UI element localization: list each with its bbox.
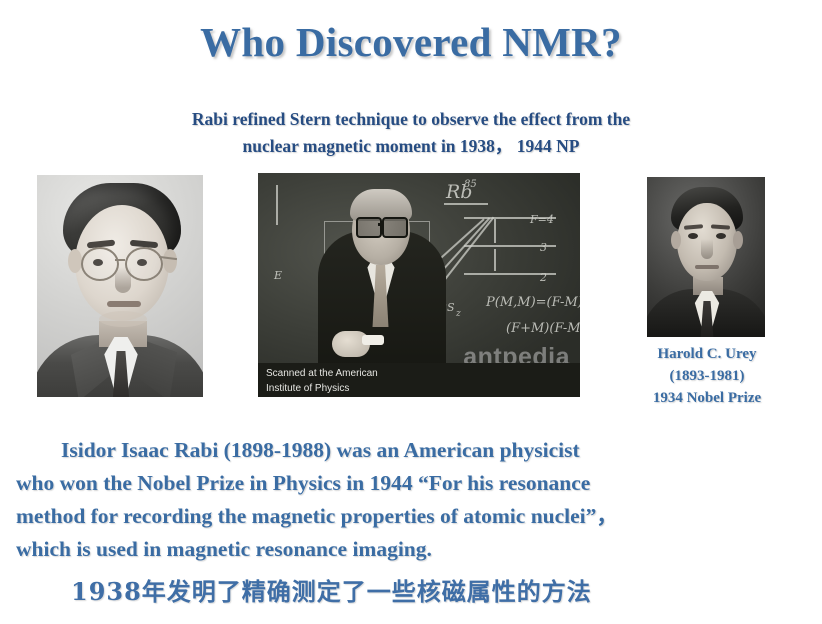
body-line-4: which is used in magnetic resonance imag… [16,533,810,566]
urey-caption-prize: 1934 Nobel Prize [636,387,778,409]
body-line-2: who won the Nobel Prize in Physics in 19… [16,467,810,500]
eyeglass-bridge [115,259,125,261]
eyeglass-lens-right [125,247,163,281]
chalk-note-fmfm: (F+M)(F-M [506,321,580,336]
eyeglass-lens-right [382,217,408,238]
chalk-stroke-left [276,185,278,225]
eyeglass-bridge [378,223,384,226]
urey-caption: Harold C. Urey (1893-1981) 1934 Nobel Pr… [636,343,778,409]
chalk-tick-2 [494,249,496,271]
nose-shape [701,239,713,259]
chalk-note-pmm: P(M,M)=(F-M) [486,295,580,310]
rabi-blackboard-photo: Rb 85 F=4 3 2 P(M,M)=(F-M) (F+M)(F-M 2S … [258,173,580,397]
urey-portrait-photo [647,177,765,337]
subtitle: Rabi refined Stern technique to observe … [111,106,711,160]
eyeglass-lens-left [81,247,119,281]
chalk-level-line-3 [464,273,556,275]
chalk-underline [444,203,488,205]
eye-left [688,233,698,239]
chalk-note-f4: F=4 [530,213,554,226]
body-line-1: Isidor Isaac Rabi (1898-1988) was an Ame… [16,434,810,467]
page-title: Who Discovered NMR? [0,18,822,66]
slide-canvas: Who Discovered NMR? Rabi refined Stern t… [0,0,822,624]
chalk-note-3: 3 [540,241,547,254]
photo-credit-caption: Scanned at the American Institute of Phy… [258,363,580,397]
subtitle-line-2: nuclear magnetic moment in 1938， 1944 NP [111,133,711,160]
caption-line-2: Institute of Physics [266,381,580,396]
chalk-note-e: E [274,269,282,282]
body-paragraph: Isidor Isaac Rabi (1898-1988) was an Ame… [16,434,810,566]
caption-line-1: Scanned at the American [266,366,580,381]
chalk-note-85: 85 [464,179,477,190]
ear-right [733,231,743,249]
eye-right [716,233,726,239]
chalk-stick [362,335,384,345]
chalk-level-line-1 [464,217,556,219]
chalk-level-line-2 [464,245,556,247]
chin-shape [99,311,147,327]
ear-left [671,231,681,249]
urey-caption-dates: (1893-1981) [636,365,778,387]
body-line-3: method for recording the magnetic proper… [16,500,810,533]
ear-left [68,249,82,273]
eyeglass-lens-left [356,217,382,238]
ear-right [163,249,177,273]
chalk-tick-1 [494,219,496,243]
urey-caption-name: Harold C. Urey [636,343,778,365]
subtitle-line-1: Rabi refined Stern technique to observe … [192,109,630,129]
rabi-portrait-photo [37,175,203,397]
chinese-annotation: 1938年发明了精确测定了一些核磁属性的方法 [16,572,810,607]
mouth-shape [695,265,719,269]
mouth-shape [107,301,141,307]
chalk-note-z: z [456,309,461,319]
